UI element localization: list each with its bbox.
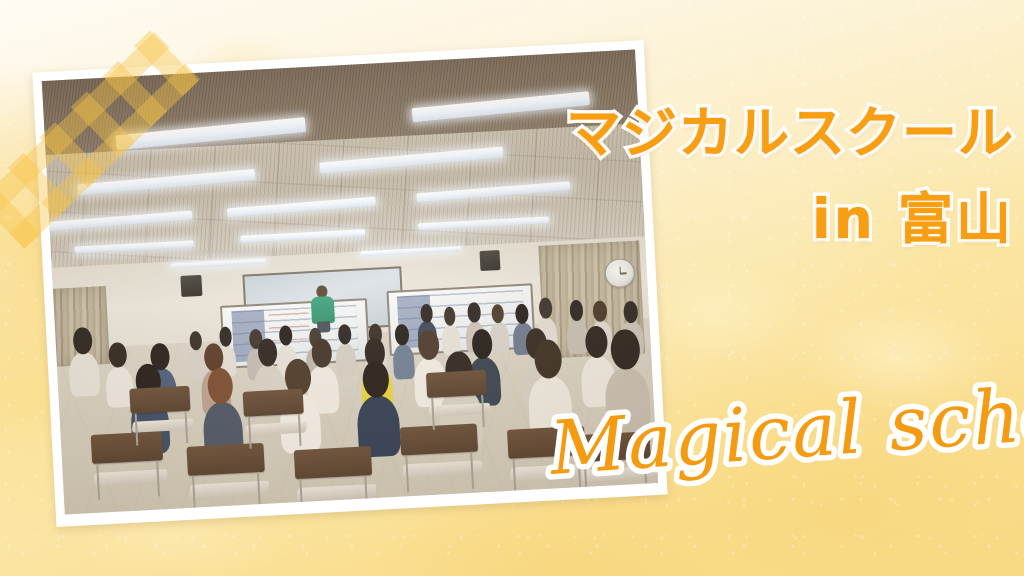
person-head	[471, 329, 493, 360]
chair	[426, 370, 488, 429]
chair	[243, 389, 305, 448]
person-head	[311, 338, 332, 369]
title-line-2: in 富山	[480, 190, 1014, 250]
script-subtitle-svg: Magical school Magical school	[548, 392, 948, 502]
chair	[130, 386, 192, 445]
person-head	[593, 300, 608, 322]
event-banner: マジカルスクール in 富山 Magical school Magical sc…	[0, 0, 1024, 576]
chair-back	[186, 443, 265, 476]
person-head	[418, 329, 440, 360]
title-line-1: マジカルスクール	[480, 104, 1014, 164]
person-head	[279, 325, 293, 346]
audience-person	[68, 352, 100, 397]
chair-back	[293, 446, 372, 479]
chair	[186, 443, 267, 512]
presenter	[309, 285, 337, 332]
wall-speaker	[479, 250, 500, 271]
wall-speaker	[180, 275, 202, 298]
chair-back	[130, 386, 191, 414]
person-head	[515, 304, 529, 325]
chair-back	[243, 389, 304, 417]
presenter-body	[311, 296, 335, 324]
chair	[399, 423, 480, 492]
chair-back	[426, 370, 487, 398]
person-head	[395, 324, 410, 346]
script-subtitle: Magical school Magical school	[548, 392, 948, 502]
chair	[293, 446, 374, 514]
person-head	[569, 300, 584, 322]
